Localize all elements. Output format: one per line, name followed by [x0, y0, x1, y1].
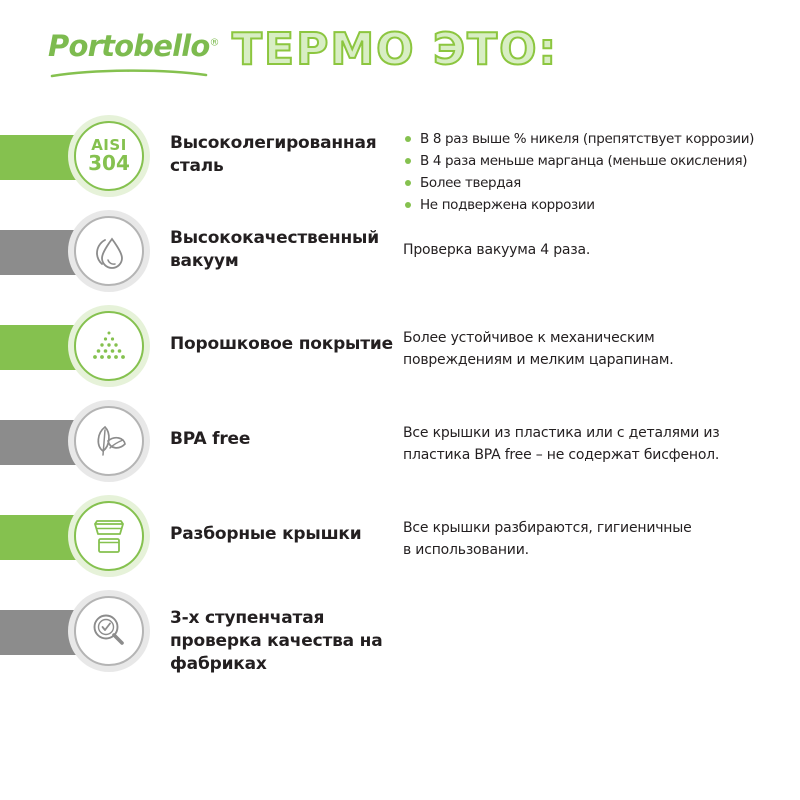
feature-row-steel: AISI 304 Высоколегированная сталь В 8 ра…: [0, 110, 800, 205]
page-title: ТЕРМО ЭТО:: [232, 28, 558, 72]
description-line: в использовании.: [403, 540, 800, 562]
description-line: Все крышки из пластика или с деталями из: [403, 423, 800, 445]
feature-title: 3-х ступенчатая проверка качества на фаб…: [170, 607, 395, 676]
portobello-logo: Portobello®: [48, 32, 213, 84]
description-line: повреждениям и мелким царапинам.: [403, 350, 800, 372]
description-line: Более устойчивое к механическим: [403, 328, 800, 350]
feature-title: Порошковое покрытие: [170, 333, 395, 356]
detachable-lid-icon: [68, 495, 150, 577]
magnifier-check-icon: [68, 590, 150, 672]
feature-list: AISI 304 Высоколегированная сталь В 8 ра…: [0, 110, 800, 680]
water-drop-vacuum-icon: [68, 210, 150, 292]
feature-row-bpa-free: BPA free Все крышки из пластика или с де…: [0, 395, 800, 490]
feature-row-quality-check: 3-х ступенчатая проверка качества на фаб…: [0, 585, 800, 680]
logo-swoosh-icon: [50, 68, 208, 78]
feature-description: Все крышки разбираются, гигиеничные в ис…: [403, 518, 800, 561]
feature-description: Проверка вакуума 4 раза.: [403, 240, 800, 262]
feature-bullet-list: В 8 раз выше % никеля (препятствует корр…: [403, 128, 800, 216]
registered-trademark-icon: ®: [210, 37, 219, 48]
feature-title: BPA free: [170, 428, 395, 451]
feature-row-detachable-lids: Разборные крышки Все крышки разбираются,…: [0, 490, 800, 585]
badge-line-2: 304: [88, 153, 130, 174]
description-line: Проверка вакуума 4 раза.: [403, 240, 800, 262]
list-item: В 4 раза меньше марганца (меньше окислен…: [403, 150, 800, 172]
leaves-icon: [68, 400, 150, 482]
feature-title: Высококачественный вакуум: [170, 227, 395, 273]
list-item: В 8 раз выше % никеля (препятствует корр…: [403, 128, 800, 150]
list-item: Более твердая: [403, 172, 800, 194]
page-header: Portobello® ТЕРМО ЭТО:: [0, 0, 800, 110]
description-line: пластика BPA free – не содержат бисфенол…: [403, 445, 800, 467]
feature-row-vacuum: Высококачественный вакуум Проверка вакуу…: [0, 205, 800, 300]
feature-description: Более устойчивое к механическим поврежде…: [403, 328, 800, 371]
powder-dots-icon: [68, 305, 150, 387]
logo-brand-text: Portobello: [48, 29, 210, 63]
feature-title: Разборные крышки: [170, 523, 395, 546]
aisi-304-badge-icon: AISI 304: [68, 115, 150, 197]
feature-description: Все крышки из пластика или с деталями из…: [403, 423, 800, 466]
feature-row-powder: Порошковое покрытие Более устойчивое к м…: [0, 300, 800, 395]
feature-title: Высоколегированная сталь: [170, 132, 395, 178]
logo-wordmark: Portobello®: [48, 32, 213, 61]
description-line: Все крышки разбираются, гигиеничные: [403, 518, 800, 540]
